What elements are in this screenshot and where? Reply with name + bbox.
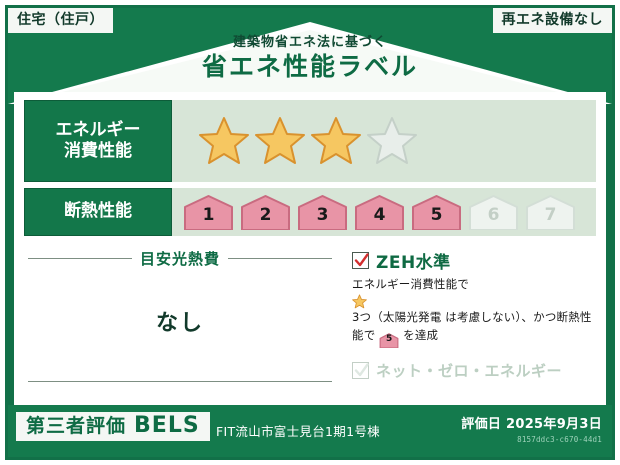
zeh-checkbox[interactable] bbox=[352, 252, 369, 269]
zeh-inline-grade-badge: 5 bbox=[379, 333, 399, 348]
lower-section: 目安光熱費 なし ZEH水準 エネルギー消費性能で bbox=[24, 242, 596, 394]
insulation-grade-2-value: 2 bbox=[260, 205, 272, 230]
label-title: 省エネ性能ラベル bbox=[0, 53, 620, 81]
label-subtitle: 建築物省エネ法に基づく bbox=[0, 36, 620, 50]
star-empty-icon bbox=[366, 115, 418, 167]
evaluation-date: 評価日 2025年9月3日 bbox=[461, 413, 602, 432]
check-icon bbox=[354, 253, 369, 268]
utility-cost-title: 目安光熱費 bbox=[140, 248, 220, 269]
utility-cost-bottom-rule bbox=[28, 381, 332, 382]
net-zero-energy-row: ネット・ゼロ・エネルギー bbox=[352, 360, 596, 381]
bels-jp-label: 第三者評価 bbox=[26, 417, 126, 436]
evaluation-info: 評価日 2025年9月3日 8157ddc3-c670-44d1 bbox=[461, 413, 602, 444]
evaluation-date-label: 評価日 bbox=[461, 417, 501, 432]
insulation-grade-2: 2 bbox=[239, 194, 292, 230]
insulation-grade-7-value: 7 bbox=[545, 205, 557, 230]
star-filled-icon bbox=[198, 115, 250, 167]
insulation-grade-6: 6 bbox=[467, 194, 520, 230]
insulation-grade-scale: 1 2 3 bbox=[182, 194, 577, 230]
insulation-grade-3: 3 bbox=[296, 194, 349, 230]
bels-energy-label: 住宅（住戸） 再エネ設備なし 建築物省エネ法に基づく 省エネ性能ラベル エネルギ… bbox=[0, 0, 620, 465]
label-footer: 第三者評価 BELS FIT流山市富士見台1期1号棟 評価日 2025年9月3日… bbox=[8, 405, 612, 457]
zeh-title: ZEH水準 bbox=[376, 248, 451, 273]
insulation-grade-1-value: 1 bbox=[203, 205, 215, 230]
star-filled-icon bbox=[310, 115, 362, 167]
renewable-equipment-tag: 再エネ設備なし bbox=[493, 8, 613, 33]
insulation-grade-4-value: 4 bbox=[374, 205, 386, 230]
energy-label-line2: 消費性能 bbox=[56, 141, 141, 162]
energy-performance-label: エネルギー 消費性能 bbox=[24, 100, 172, 182]
insulation-grade-4: 4 bbox=[353, 194, 406, 230]
insulation-grade-5: 5 bbox=[410, 194, 463, 230]
heading-rule-left bbox=[28, 258, 132, 259]
check-icon-disabled bbox=[354, 363, 369, 378]
insulation-grade-5-value: 5 bbox=[431, 205, 443, 230]
title-block: 建築物省エネ法に基づく 省エネ性能ラベル bbox=[0, 36, 620, 81]
insulation-grade-7: 7 bbox=[524, 194, 577, 230]
utility-cost-heading: 目安光熱費 bbox=[24, 248, 336, 269]
energy-label-line1: エネルギー bbox=[56, 120, 141, 141]
bels-certification-chip: 第三者評価 BELS bbox=[16, 412, 210, 441]
insulation-grade-6-value: 6 bbox=[488, 205, 500, 230]
label-body: エネルギー 消費性能 bbox=[14, 92, 606, 405]
energy-performance-value bbox=[172, 100, 596, 182]
zeh-inline-grade-value: 5 bbox=[386, 333, 392, 348]
insulation-grade-3-value: 3 bbox=[317, 205, 329, 230]
zeh-description: エネルギー消費性能で 3つ（太陽光発電 は考慮しない）、かつ断熱性能で 5 を達… bbox=[352, 276, 596, 348]
zeh-panel: ZEH水準 エネルギー消費性能で 3つ（太陽光発電 は考慮しない）、かつ断熱性能… bbox=[336, 242, 596, 394]
housing-type-tag: 住宅（住戸） bbox=[8, 8, 113, 33]
evaluation-id: 8157ddc3-c670-44d1 bbox=[461, 435, 602, 444]
utility-cost-panel: 目安光熱費 なし bbox=[24, 242, 336, 394]
net-zero-energy-title: ネット・ゼロ・エネルギー bbox=[376, 360, 562, 381]
insulation-performance-value: 1 2 3 bbox=[172, 188, 596, 236]
heading-rule-right bbox=[228, 258, 332, 259]
building-name: FIT流山市富士見台1期1号棟 bbox=[216, 421, 380, 440]
zeh-desc-part1: エネルギー消費性能で bbox=[352, 277, 469, 291]
evaluation-date-value: 2025年9月3日 bbox=[506, 417, 602, 432]
energy-performance-row: エネルギー 消費性能 bbox=[24, 100, 596, 182]
star-inline-icon bbox=[352, 294, 367, 309]
bels-en-label: BELS bbox=[134, 415, 200, 437]
zeh-desc-part2: 3つ（太陽光発電 bbox=[352, 310, 441, 324]
insulation-performance-label: 断熱性能 bbox=[24, 188, 172, 236]
zeh-header-row: ZEH水準 bbox=[352, 248, 596, 273]
insulation-grade-1: 1 bbox=[182, 194, 235, 230]
star-filled-icon bbox=[254, 115, 306, 167]
insulation-performance-row: 断熱性能 1 2 bbox=[24, 188, 596, 236]
utility-cost-value: なし bbox=[24, 305, 336, 337]
star-rating bbox=[198, 115, 418, 167]
net-zero-energy-checkbox[interactable] bbox=[352, 362, 369, 379]
zeh-desc-part4: を達成 bbox=[403, 328, 438, 342]
